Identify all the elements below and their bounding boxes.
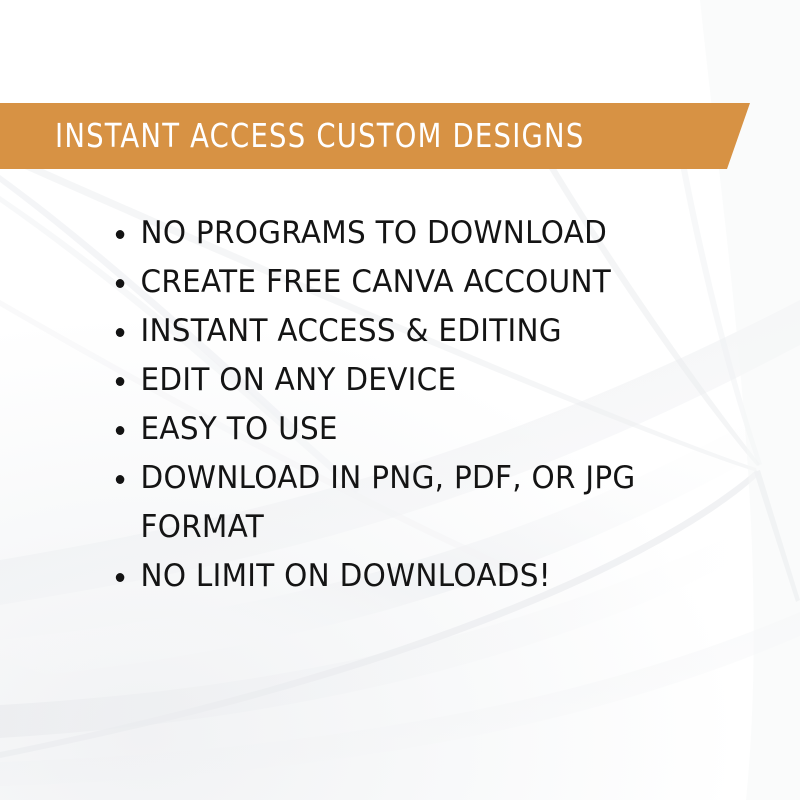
banner-title: INSTANT ACCESS CUSTOM DESIGNS (55, 117, 584, 155)
list-item-label: INSTANT ACCESS & EDITING (141, 313, 562, 349)
list-item: CREATE FREE CANVA ACCOUNT (112, 258, 701, 307)
list-item-label: EDIT ON ANY DEVICE (141, 362, 457, 398)
feature-list: NO PROGRAMS TO DOWNLOAD CREATE FREE CANV… (112, 209, 732, 601)
header-banner: INSTANT ACCESS CUSTOM DESIGNS (0, 103, 750, 169)
list-item: INSTANT ACCESS & EDITING (112, 307, 701, 356)
promo-graphic-canvas: INSTANT ACCESS CUSTOM DESIGNS NO PROGRAM… (0, 0, 800, 800)
list-item-label: DOWNLOAD IN PNG, PDF, OR JPG FORMAT (141, 460, 636, 545)
list-item-label: NO LIMIT ON DOWNLOADS! (141, 558, 551, 594)
list-item: DOWNLOAD IN PNG, PDF, OR JPG FORMAT (112, 454, 701, 552)
list-item: EASY TO USE (112, 405, 701, 454)
list-item: NO LIMIT ON DOWNLOADS! (112, 552, 701, 601)
list-item: NO PROGRAMS TO DOWNLOAD (112, 209, 701, 258)
list-item-label: NO PROGRAMS TO DOWNLOAD (141, 215, 608, 251)
list-item-label: CREATE FREE CANVA ACCOUNT (141, 264, 612, 300)
list-item-label: EASY TO USE (141, 411, 338, 447)
list-item: EDIT ON ANY DEVICE (112, 356, 701, 405)
